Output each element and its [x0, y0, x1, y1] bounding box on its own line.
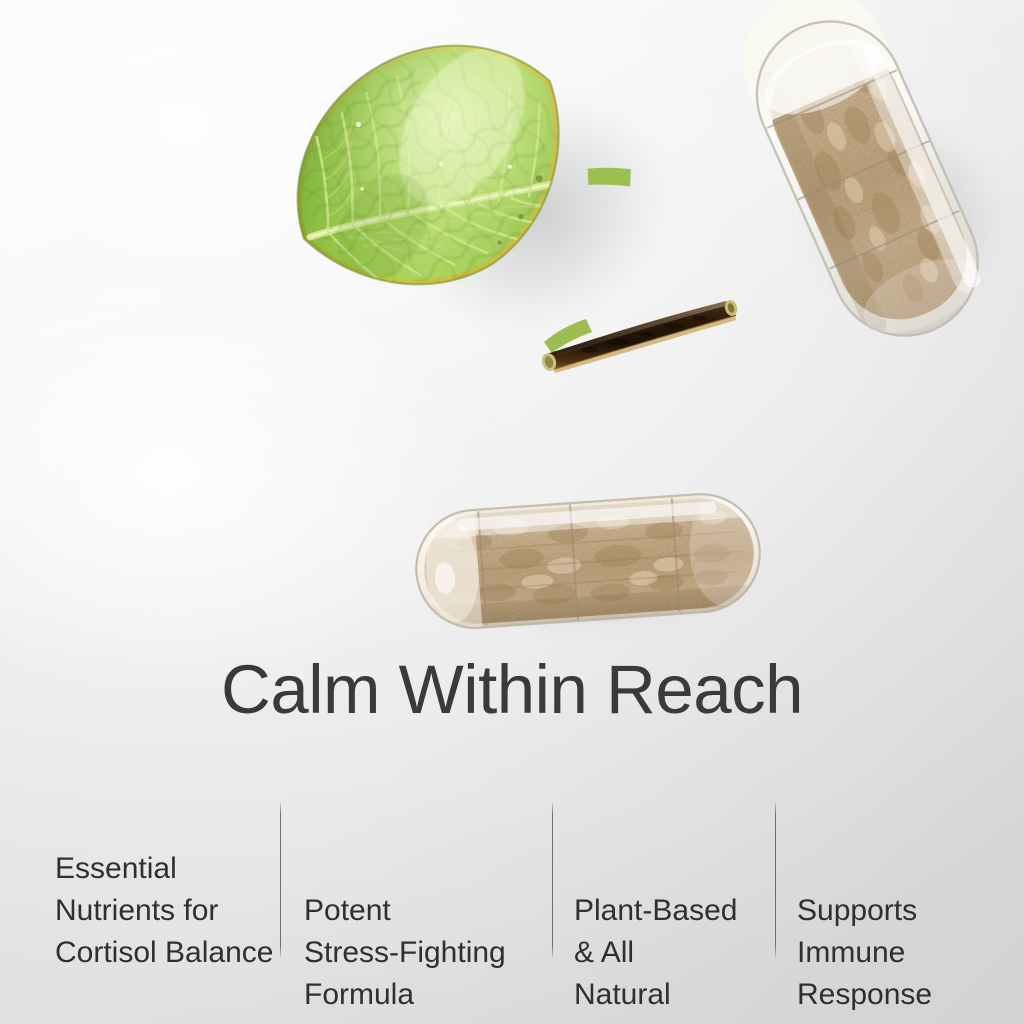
feature-essential-nutrients: Essential Nutrients for Cortisol Balance — [0, 806, 280, 974]
feature-label: Potent Stress-Fighting Formula — [304, 894, 506, 1011]
product-photo — [0, 0, 1024, 660]
product-hero-banner: Calm Within Reach Essential Nutrients fo… — [0, 0, 1024, 1024]
feature-divider — [552, 802, 553, 958]
feature-divider — [775, 802, 776, 958]
feature-divider — [280, 802, 281, 958]
feature-plant-based: Plant-Based & All Natural — [552, 806, 775, 1016]
feature-potent-formula: Potent Stress-Fighting Formula — [280, 806, 552, 1016]
capsule-center — [404, 482, 774, 642]
capsule-top-right — [676, 70, 1024, 430]
feature-label: Plant-Based & All Natural — [574, 894, 737, 1011]
feature-immune-support: Supports Immune Response — [775, 806, 1024, 1016]
feature-label: Supports Immune Response — [797, 894, 932, 1011]
page-title: Calm Within Reach — [0, 655, 1024, 724]
feature-list: Essential Nutrients for Cortisol Balance… — [0, 806, 1024, 966]
feature-label: Essential Nutrients for Cortisol Balance — [55, 852, 273, 969]
